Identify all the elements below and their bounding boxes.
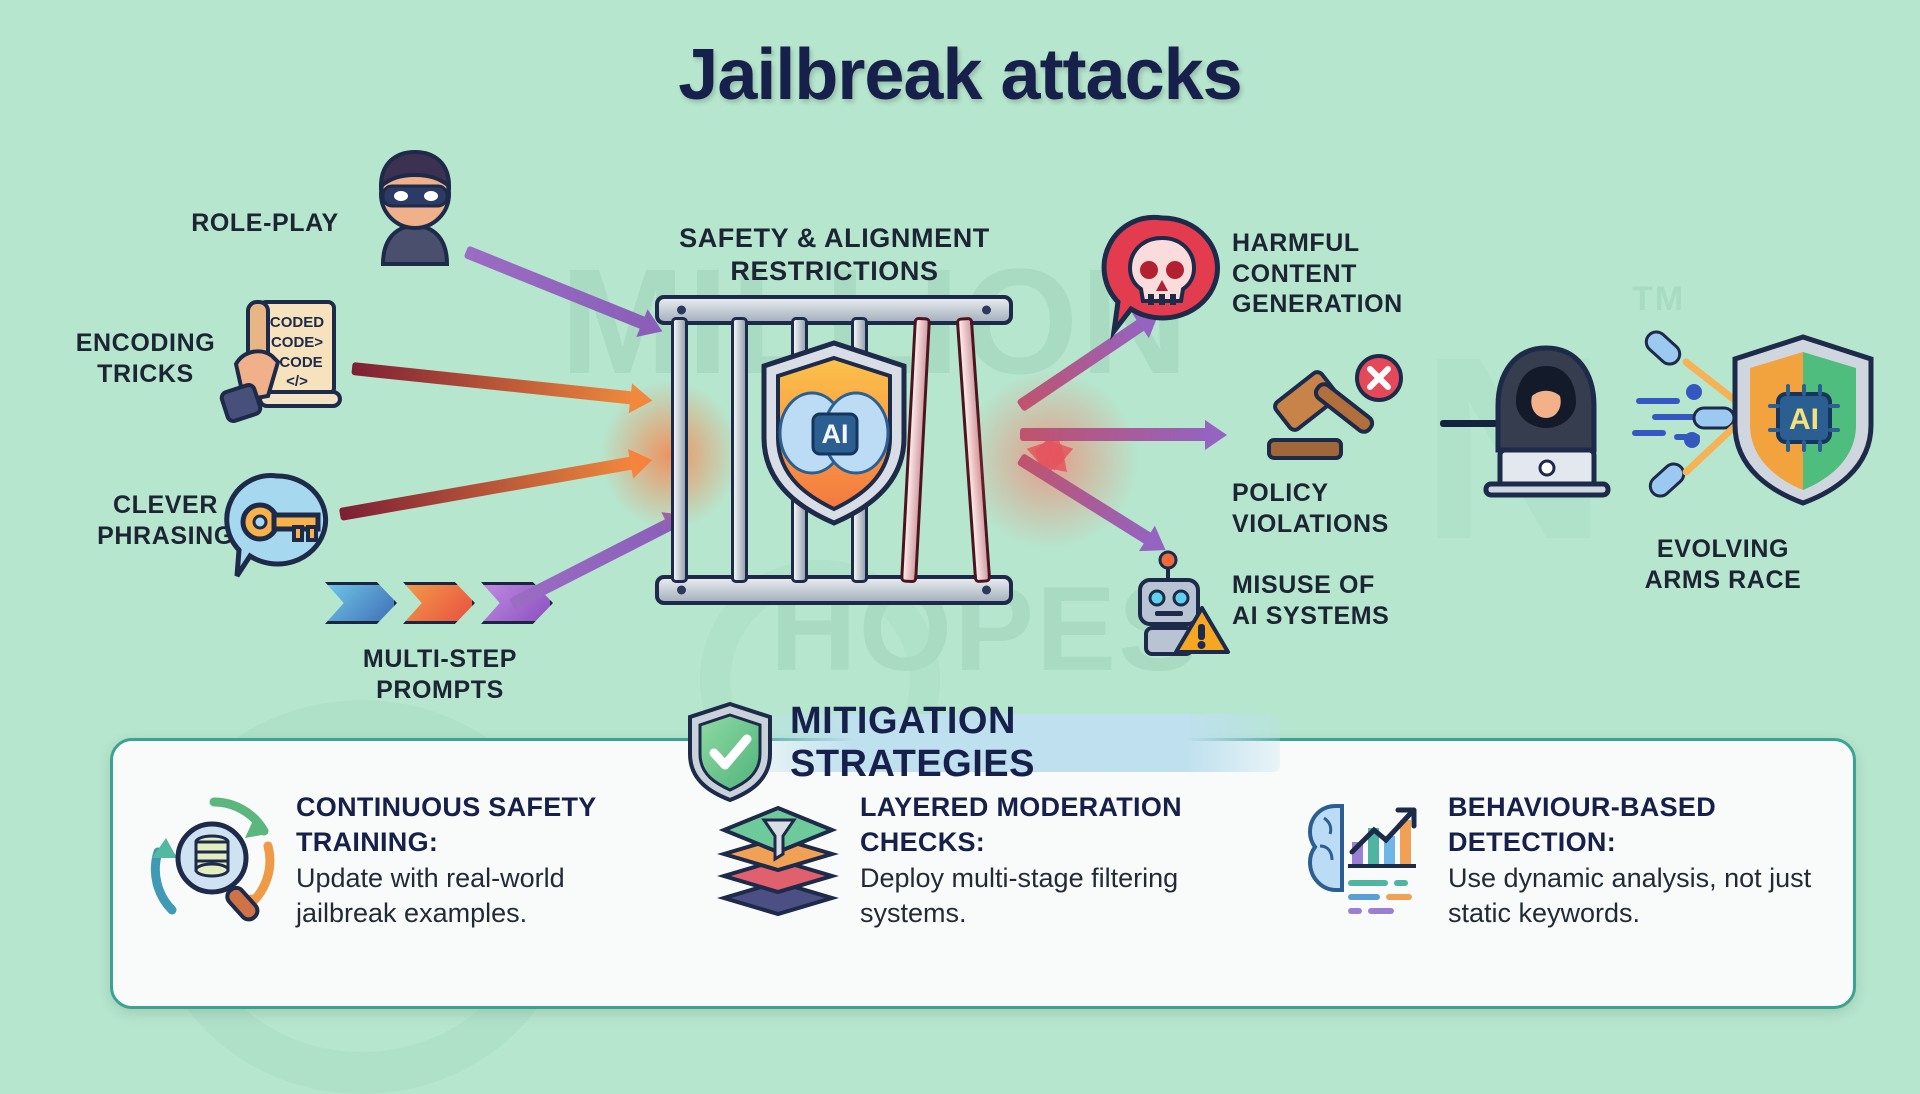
infographic-canvas: MILLION HOPES AI FOR REAL IMPACT TM N Ja… — [0, 0, 1920, 1041]
robot-warning-icon — [1122, 548, 1232, 658]
skull-bubble-icon — [1098, 212, 1226, 340]
mitigation-card-1: CONTINUOUS SAFETY TRAINING: Update with … — [148, 790, 668, 970]
mitigation-card-3-heading: BEHAVIOUR-BASED DETECTION: — [1448, 790, 1820, 859]
mitigation-card-3: BEHAVIOUR-BASED DETECTION: Use dynamic a… — [1300, 790, 1820, 970]
outcome-label-policy-violations: POLICY VIOLATIONS — [1232, 478, 1462, 539]
brain-analytics-icon — [1300, 794, 1432, 926]
page-title: Jailbreak attacks — [0, 34, 1920, 116]
attack-label-encoding-tricks: ENCODING TRICKS — [58, 328, 233, 389]
arms-race-label: EVOLVING ARMS RACE — [1598, 534, 1848, 595]
mitigation-card-3-body: Use dynamic analysis, not just static ke… — [1448, 861, 1820, 931]
scroll-code-line4: </> — [286, 373, 308, 390]
layered-funnel-icon — [712, 794, 844, 926]
mitigation-banner-title: MITIGATION STRATEGIES — [790, 718, 1260, 768]
cage-bar-2 — [731, 317, 748, 583]
mitigation-card-2-heading: LAYERED MODERATION CHECKS: — [860, 790, 1232, 859]
ai-brain-shield-icon: AI — [757, 338, 912, 528]
arms-race-shield-chip-label: AI — [1789, 403, 1819, 436]
hooded-hacker-laptop-icon — [1470, 338, 1622, 500]
gavel-blocked-icon — [1255, 348, 1405, 478]
shield-check-icon — [686, 700, 774, 802]
center-restrictions-label: SAFETY & ALIGNMENTRESTRICTIONS — [662, 222, 1007, 288]
code-scroll-icon: CODED CODE> CODE </> — [218, 292, 348, 427]
shield-chip-label: AI — [822, 419, 849, 449]
outcome-label-misuse-ai: MISUSE OF AI SYSTEMS — [1232, 570, 1462, 631]
key-speech-bubble-icon — [218, 468, 336, 586]
cage-rail-bottom — [655, 575, 1013, 605]
outcome-arrow-policy — [1020, 428, 1210, 441]
attack-arrow-role-play — [464, 245, 650, 330]
attack-label-multi-step-prompts: MULTI-STEP PROMPTS — [320, 644, 560, 705]
mitigation-card-2-body: Deploy multi-stage filtering systems. — [860, 861, 1232, 931]
watermark-tm: TM — [1632, 280, 1685, 319]
attack-arrow-clever-phrasing — [339, 456, 637, 521]
chevron-2-icon — [403, 582, 475, 624]
cage-bar-1 — [671, 317, 688, 583]
ai-shield-icon: AI — [1728, 332, 1878, 508]
attack-arrow-multi-step — [509, 517, 675, 610]
masked-person-icon — [355, 142, 475, 272]
mitigation-card-1-heading: CONTINUOUS SAFETY TRAINING: — [296, 790, 668, 859]
chevron-1-icon — [325, 582, 397, 624]
scroll-code-line2: CODE> — [271, 334, 323, 351]
outcome-label-harmful-content: HARMFUL CONTENT GENERATION — [1232, 228, 1452, 320]
attack-label-role-play: ROLE-PLAY — [175, 208, 355, 239]
scroll-code-line3: CODE — [279, 354, 322, 371]
scroll-code-line1: CODED — [270, 314, 324, 331]
mitigation-card-2: LAYERED MODERATION CHECKS: Deploy multi-… — [712, 790, 1232, 970]
attack-arrow-encoding — [351, 362, 636, 405]
mitigation-card-1-body: Update with real-world jailbreak example… — [296, 861, 668, 931]
cycle-magnifier-database-icon — [148, 794, 280, 926]
